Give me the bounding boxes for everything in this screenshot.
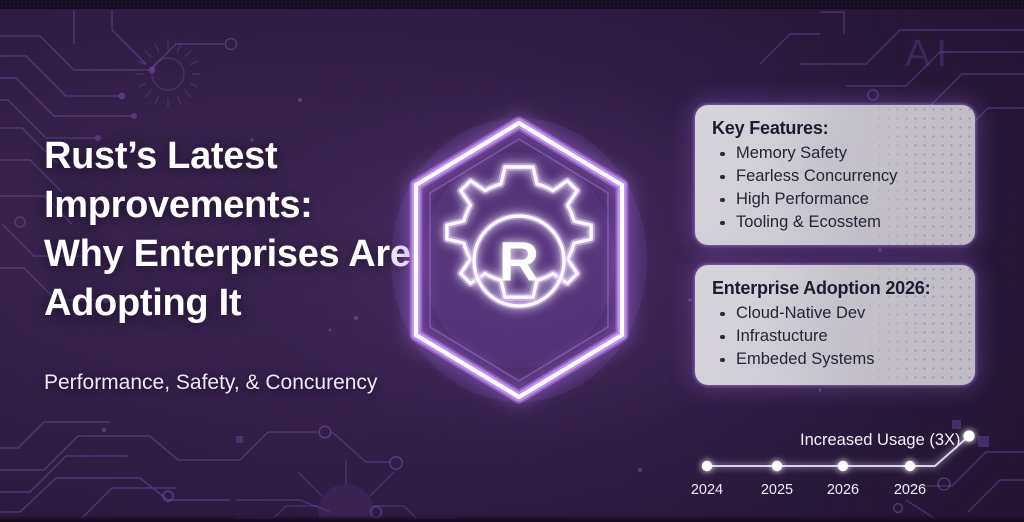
key-features-heading: Key Features: <box>712 118 959 139</box>
enterprise-adoption-heading: Enterprise Adoption 2026: <box>712 278 959 299</box>
key-features-list: Memory Safety Fearless Concurrency High … <box>712 142 959 234</box>
list-item-label: Fearless Concurrency <box>736 167 897 185</box>
bullet-icon <box>720 198 725 203</box>
chart-point <box>905 461 915 471</box>
chart-point-peak <box>963 430 974 441</box>
list-item: Memory Safety <box>712 142 959 165</box>
bullet-icon <box>720 175 725 180</box>
page-subtitle: Performance, Safety, & Concurency <box>44 371 377 395</box>
usage-timeline-chart: Increased Usage (3X) 2024 2025 2026 2026 <box>670 418 1024 522</box>
chart-point <box>702 461 712 471</box>
poster-canvas: AI Rust’s Latest Improvements: Why Enter… <box>0 0 1024 522</box>
list-item-label: Memory Safety <box>736 144 847 162</box>
chart-tick-label: 2026 <box>894 482 926 498</box>
list-item-label: Infrastucture <box>736 327 828 345</box>
bullet-icon <box>720 312 725 317</box>
bullet-icon <box>720 221 725 226</box>
list-item: Tooling & Ecosstem <box>712 211 959 234</box>
enterprise-adoption-list: Cloud-Native Dev Infrastucture Embeded S… <box>712 302 959 371</box>
chart-tick-label: 2025 <box>761 482 793 498</box>
list-item: High Performance <box>712 188 959 211</box>
bullet-icon <box>720 358 725 363</box>
key-features-card: Key Features: Memory Safety Fearless Con… <box>695 105 975 245</box>
bullet-icon <box>720 152 725 157</box>
usage-chart-svg: Increased Usage (3X) 2024 2025 2026 2026 <box>670 418 1024 522</box>
rust-gear-hexagon-logo: R <box>369 95 669 425</box>
list-item: Embeded Systems <box>712 348 959 371</box>
chart-point <box>838 461 848 471</box>
list-item-label: Tooling & Ecosstem <box>736 213 881 231</box>
list-item-label: Cloud-Native Dev <box>736 304 865 322</box>
list-item-label: High Performance <box>736 190 869 208</box>
logo-svg: R <box>369 95 669 425</box>
chart-point <box>772 461 782 471</box>
list-item-label: Embeded Systems <box>736 350 874 368</box>
list-item: Fearless Concurrency <box>712 165 959 188</box>
list-item: Cloud-Native Dev <box>712 302 959 325</box>
list-item: Infrastucture <box>712 325 959 348</box>
chart-tick-label: 2024 <box>691 482 723 498</box>
top-edge-band <box>0 0 1024 9</box>
logo-letter: R <box>499 230 539 293</box>
chart-tick-label: 2026 <box>827 482 859 498</box>
chart-annotation: Increased Usage (3X) <box>800 431 961 449</box>
bullet-icon <box>720 335 725 340</box>
enterprise-adoption-card: Enterprise Adoption 2026: Cloud-Native D… <box>695 265 975 385</box>
